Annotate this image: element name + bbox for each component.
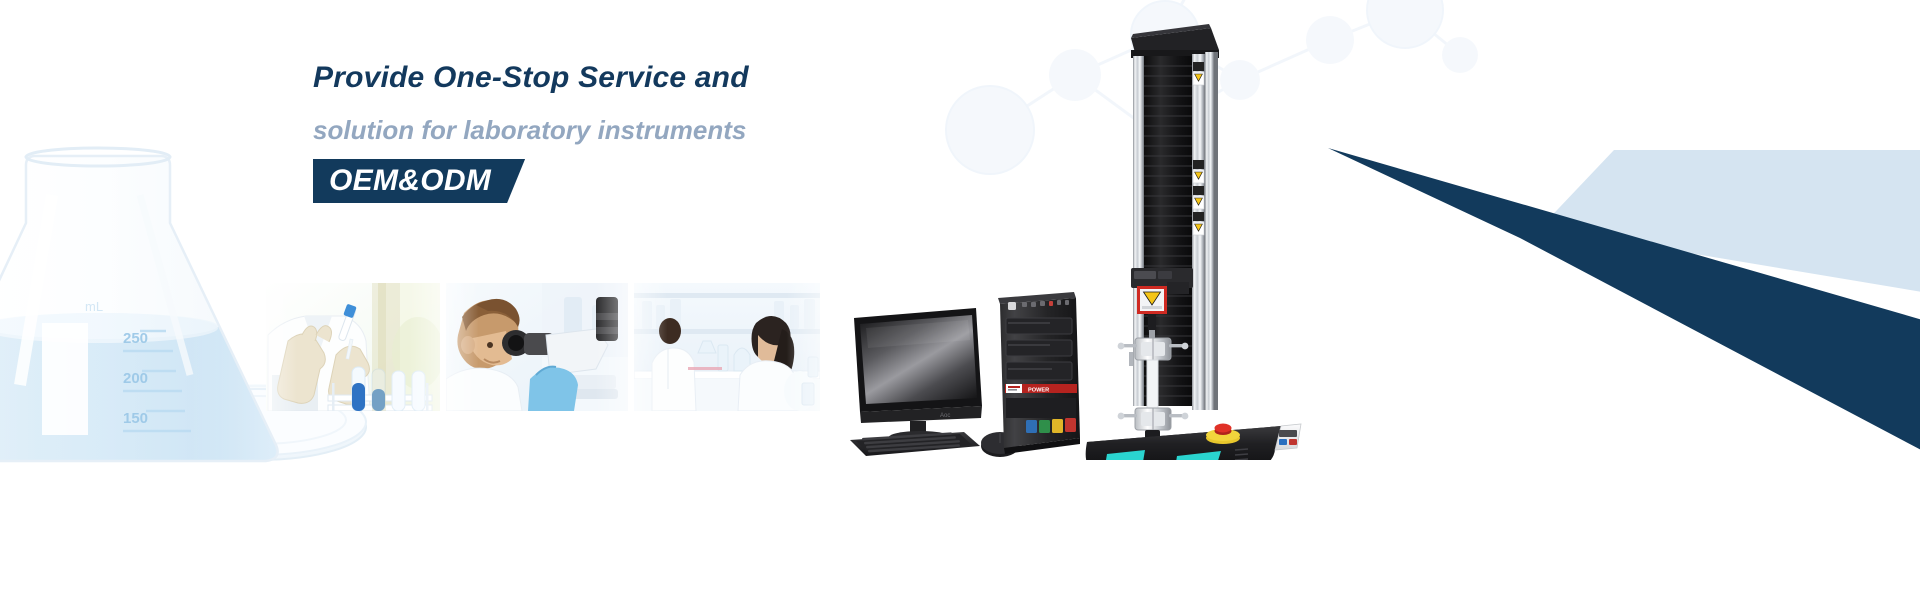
desktop-computer: Aoc	[848, 280, 1083, 460]
specimen	[1147, 360, 1158, 412]
flask-body: 250 200 150 mL	[0, 148, 310, 487]
emergency-stop-button	[1206, 424, 1240, 445]
svg-text:Aoc: Aoc	[940, 413, 950, 419]
column-outer-rail	[1205, 52, 1214, 410]
photo-microscope-researcher	[446, 283, 628, 411]
light-arrow-wedge	[1540, 150, 1920, 295]
photo-laboratory-workers	[634, 283, 820, 411]
load-rod	[1148, 314, 1156, 332]
headline-line-2: solution for laboratory instruments	[313, 111, 1013, 149]
monitor: Aoc	[854, 308, 982, 447]
oem-odm-badge: OEM&ODM	[313, 159, 525, 203]
tester-base	[1086, 424, 1301, 461]
photo-strip	[266, 283, 820, 411]
headline-line-1: Provide One-Stop Service and	[313, 58, 1013, 98]
svg-text:200: 200	[123, 370, 148, 387]
photo-pipetting-test-tubes	[266, 283, 440, 411]
headline-block: Provide One-Stop Service and solution fo…	[313, 58, 1013, 203]
svg-text:mL: mL	[85, 299, 103, 314]
keyboard	[850, 432, 980, 456]
dark-arrow-wedge	[1328, 148, 1920, 460]
promo-banner: 250 200 150 mL Provide One-Stop Service …	[0, 0, 1920, 597]
tower-pc: POWER	[998, 292, 1080, 454]
badge-row: OEM&ODM	[313, 159, 1013, 203]
svg-text:POWER: POWER	[1028, 388, 1049, 394]
universal-testing-machine	[1085, 10, 1305, 460]
svg-text:250: 250	[123, 330, 148, 347]
svg-text:150: 150	[123, 410, 148, 427]
